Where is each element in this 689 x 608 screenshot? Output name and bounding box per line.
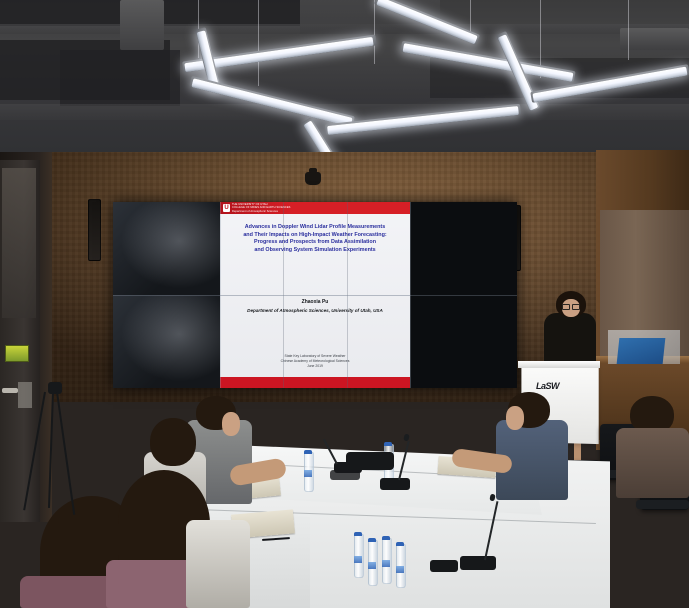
- ceiling: [0, 0, 689, 160]
- video-wall-panel: [113, 202, 220, 295]
- exit-sign: [5, 345, 29, 362]
- attendee-torso: [616, 428, 689, 498]
- logo-line-3: Department of Atmospheric Sciences: [232, 210, 291, 213]
- slide-affiliation: Department of Atmospheric Sciences, Univ…: [226, 308, 404, 314]
- video-wall-panel: [410, 202, 517, 295]
- slide-title-line: Advances in Doppler Wind Lidar Profile M…: [226, 224, 404, 232]
- slide-footer: State Key Laboratory of Severe Weather C…: [226, 354, 404, 368]
- presenter-glasses-icon: [562, 304, 580, 308]
- slide-title: Advances in Doppler Wind Lidar Profile M…: [226, 224, 404, 254]
- ceiling-camera: [305, 172, 321, 185]
- slide-title-line: Progress and Prospects from Data Assimil…: [226, 239, 404, 247]
- slide-bottom-bar: [220, 377, 410, 388]
- door-window: [2, 168, 36, 318]
- attendee-torso: [186, 520, 250, 608]
- door-lock-plate: [18, 382, 32, 408]
- video-wall-panel: [410, 295, 517, 388]
- u-block-icon: U: [223, 204, 230, 212]
- video-wall[interactable]: U THE UNIVERSITY OF UTAH COLLEGE OF MINE…: [113, 202, 517, 388]
- gooseneck-microphone[interactable]: [430, 560, 458, 572]
- video-wall-panel: [113, 295, 220, 388]
- laptop-screen: [617, 338, 666, 364]
- attendee-face: [222, 412, 240, 436]
- slide-title-line: and Observing System Simulation Experime…: [226, 247, 404, 255]
- slide-author: Zhaoxia Pu: [226, 299, 404, 306]
- attendee-face: [506, 406, 524, 430]
- door-handle[interactable]: [2, 388, 18, 393]
- cable-box: [330, 470, 360, 480]
- gooseneck-microphone[interactable]: [460, 556, 496, 570]
- slide-title-line: and Their Impacts on High-Impact Weather…: [226, 232, 404, 240]
- attendee-head: [150, 418, 196, 466]
- gooseneck-microphone[interactable]: [380, 478, 410, 490]
- slide-footer-line: June 2019: [226, 364, 404, 369]
- conference-room-photo: U THE UNIVERSITY OF UTAH COLLEGE OF MINE…: [0, 0, 689, 608]
- university-logo: U THE UNIVERSITY OF UTAH COLLEGE OF MINE…: [220, 202, 292, 214]
- conference-phone[interactable]: [346, 452, 394, 470]
- podium-surface: [518, 361, 600, 368]
- ceiling-duct: [120, 0, 164, 50]
- podium-logo: LaSW: [536, 381, 559, 391]
- wall-speaker-left: [88, 199, 101, 261]
